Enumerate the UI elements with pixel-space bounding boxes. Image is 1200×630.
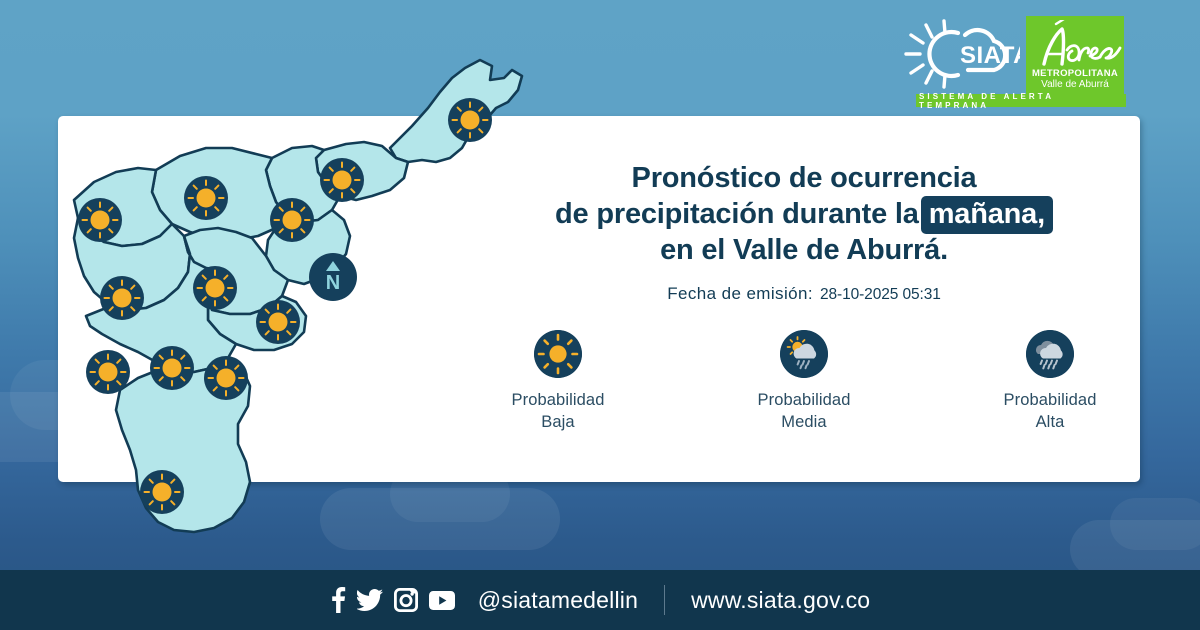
siata-wordmark: SIATA — [960, 42, 1020, 69]
footer-divider — [664, 585, 665, 615]
headline-line-2-prefix: de precipitación durante la — [555, 198, 919, 230]
legend-label-medium-line1: Probabilidad — [758, 391, 851, 409]
early-warning-tagline: SISTEMA DE ALERTA TEMPRANA — [916, 94, 1126, 107]
emission-date-row: Fecha de emisión: 28-10-2025 05:31 — [468, 284, 1140, 304]
legend-label-high-line2: Alta — [1036, 413, 1065, 431]
legend-item-low: Probabilidad Baja — [488, 330, 628, 433]
legend-label-low: Probabilidad Baja — [512, 389, 605, 433]
legend-label-medium: Probabilidad Media — [758, 389, 851, 433]
legend-item-medium: Probabilidad Media — [734, 330, 874, 433]
website-url[interactable]: www.siata.gov.co — [691, 587, 870, 614]
forecast-text-block: Pronóstico de ocurrencia de precipitació… — [468, 160, 1140, 304]
social-links — [330, 587, 455, 613]
area-metropolitana-logo: METROPOLITANA Valle de Aburrá — [1026, 16, 1124, 94]
emission-date-label: Fecha de emisión: — [667, 284, 813, 304]
instagram-icon[interactable] — [394, 588, 418, 612]
twitter-icon[interactable] — [357, 589, 383, 611]
legend-label-low-line1: Probabilidad — [512, 391, 605, 409]
headline-highlight-mañana: mañana, — [921, 196, 1053, 234]
headline-line-1: Pronóstico de ocurrencia — [468, 160, 1140, 196]
legend-label-medium-line2: Media — [781, 413, 826, 431]
youtube-icon[interactable] — [429, 591, 455, 610]
legend-label-low-line2: Baja — [541, 413, 574, 431]
cloud-decoration — [1110, 498, 1200, 550]
area-script-mark — [1026, 20, 1124, 70]
legend-item-high: Probabilidad Alta — [980, 330, 1120, 433]
legend-label-high-line1: Probabilidad — [1004, 391, 1097, 409]
probability-legend: Probabilidad Baja — [468, 330, 1140, 433]
sun-icon — [534, 330, 582, 378]
area-logo-line2: Valle de Aburrá — [1041, 79, 1109, 91]
emission-date-value: 28-10-2025 05:31 — [820, 286, 941, 304]
footer-bar: @siatamedellin www.siata.gov.co — [0, 570, 1200, 630]
siata-logo: SIATA — [898, 18, 1020, 90]
headline-line-3: en el Valle de Aburrá. — [468, 232, 1140, 268]
rain-cloud-icon — [1026, 330, 1074, 378]
social-handle[interactable]: @siatamedellin — [478, 587, 638, 614]
headline-line-2: de precipitación durante lamañana, — [468, 196, 1140, 232]
cloud-decoration — [320, 488, 560, 550]
infographic-canvas: SIATA METROPOLITANA Valle de Aburrá SIST… — [0, 0, 1200, 630]
legend-label-high: Probabilidad Alta — [1004, 389, 1097, 433]
brand-logos: SIATA METROPOLITANA Valle de Aburrá SIST… — [898, 16, 1126, 112]
facebook-icon[interactable] — [330, 587, 346, 613]
sun-rain-cloud-icon — [780, 330, 828, 378]
